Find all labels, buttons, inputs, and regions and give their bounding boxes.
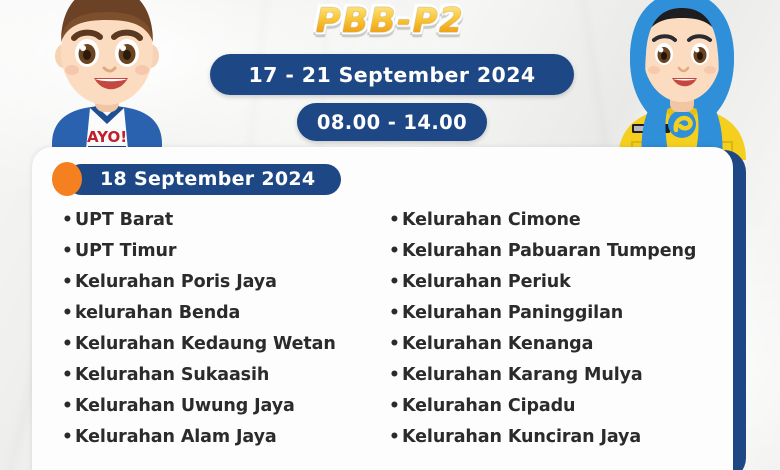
list-item-label: Kelurahan Cipadu <box>402 391 575 422</box>
time-range-badge: 08.00 - 14.00 <box>297 103 487 141</box>
list-item: • Kelurahan Kedaung Wetan <box>62 329 372 360</box>
list-item-label: Kelurahan Paninggilan <box>402 298 623 329</box>
list-item-label: Kelurahan Karang Mulya <box>402 360 643 391</box>
list-item-label: Kelurahan Kedaung Wetan <box>75 329 336 360</box>
orange-dot-marker <box>52 162 82 196</box>
list-item-label: UPT Timur <box>75 236 176 267</box>
list-item-label: Kelurahan Kunciran Jaya <box>402 422 641 453</box>
poster-canvas: PEMBAYARAN PBB-P2 AYO! <box>0 0 780 470</box>
bullet-icon: • <box>389 205 402 236</box>
list-item: • Kelurahan Poris Jaya <box>62 267 372 298</box>
poster-headline: PEMBAYARAN PBB-P2 <box>0 0 780 38</box>
bullet-icon: • <box>389 267 402 298</box>
list-item: • Kelurahan Alam Jaya <box>62 422 372 453</box>
list-item-label: Kelurahan Periuk <box>402 267 571 298</box>
list-item: • kelurahan Benda <box>62 298 372 329</box>
list-item: • Kelurahan Kunciran Jaya <box>389 422 732 453</box>
bullet-icon: • <box>389 298 402 329</box>
bullet-icon: • <box>62 205 75 236</box>
list-item: • Kelurahan Sukaasih <box>62 360 372 391</box>
bullet-icon: • <box>62 360 75 391</box>
list-item-label: kelurahan Benda <box>75 298 240 329</box>
location-column-right: • Kelurahan Cimone • Kelurahan Pabuaran … <box>372 205 732 453</box>
location-column-left: • UPT Barat • UPT Timur • Kelurahan Pori… <box>32 205 372 453</box>
location-columns: • UPT Barat • UPT Timur • Kelurahan Pori… <box>32 205 733 453</box>
list-item-label: Kelurahan Kenanga <box>402 329 593 360</box>
day-header: 18 September 2024 <box>52 162 341 196</box>
list-item-label: Kelurahan Cimone <box>402 205 581 236</box>
list-item-label: Kelurahan Pabuaran Tumpeng <box>402 236 696 267</box>
list-item: • Kelurahan Paninggilan <box>389 298 732 329</box>
bullet-icon: • <box>389 391 402 422</box>
list-item: • Kelurahan Periuk <box>389 267 732 298</box>
list-item: • Kelurahan Karang Mulya <box>389 360 732 391</box>
svg-text:AYO!: AYO! <box>87 128 127 146</box>
bullet-icon: • <box>62 267 75 298</box>
bullet-icon: • <box>62 422 75 453</box>
list-item: • Kelurahan Uwung Jaya <box>62 391 372 422</box>
list-item-label: Kelurahan Uwung Jaya <box>75 391 295 422</box>
list-item: • Kelurahan Cimone <box>389 205 732 236</box>
bullet-icon: • <box>389 236 402 267</box>
bullet-icon: • <box>389 422 402 453</box>
bullet-icon: • <box>62 236 75 267</box>
list-item-label: Kelurahan Poris Jaya <box>75 267 277 298</box>
bullet-icon: • <box>62 298 75 329</box>
list-item: • Kelurahan Kenanga <box>389 329 732 360</box>
list-item: • Kelurahan Cipadu <box>389 391 732 422</box>
list-item-label: Kelurahan Sukaasih <box>75 360 269 391</box>
list-item-label: Kelurahan Alam Jaya <box>75 422 277 453</box>
day-date-label: 18 September 2024 <box>66 164 341 195</box>
list-item-label: UPT Barat <box>75 205 173 236</box>
headline-main-title: PBB-P2 <box>0 4 780 38</box>
schedule-card: 18 September 2024 • UPT Barat • UPT Timu… <box>32 147 733 470</box>
bullet-icon: • <box>389 360 402 391</box>
list-item: • UPT Timur <box>62 236 372 267</box>
bullet-icon: • <box>62 329 75 360</box>
list-item: • Kelurahan Pabuaran Tumpeng <box>389 236 732 267</box>
date-range-badge: 17 - 21 September 2024 <box>210 54 574 95</box>
bullet-icon: • <box>389 329 402 360</box>
bullet-icon: • <box>62 391 75 422</box>
list-item: • UPT Barat <box>62 205 372 236</box>
